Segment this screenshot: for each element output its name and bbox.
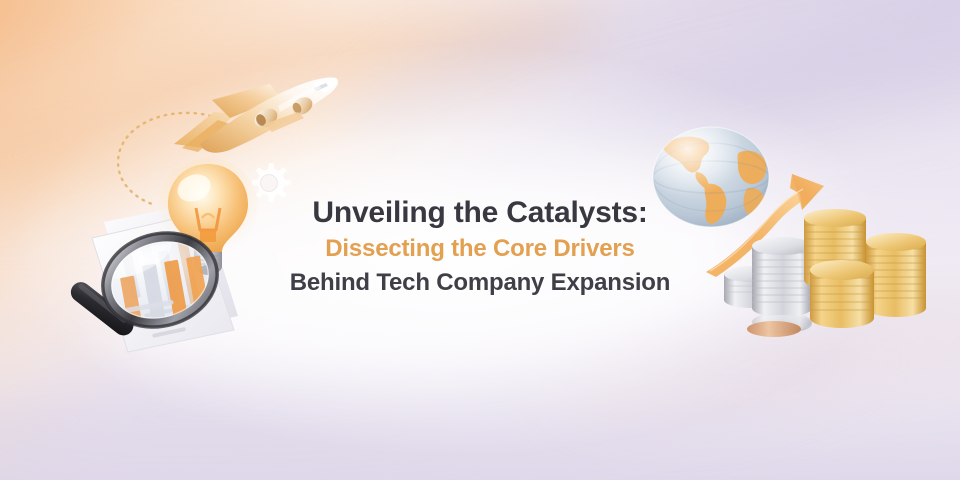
headline-line-3: Behind Tech Company Expansion [0,266,960,300]
headline-block: Unveiling the Catalysts: Dissecting the … [0,194,960,300]
airplane-icon [152,56,352,166]
headline-line-2: Dissecting the Core Drivers [0,232,960,266]
headline-line-1: Unveiling the Catalysts: [0,194,960,232]
marketing-banner: Unveiling the Catalysts: Dissecting the … [0,0,960,480]
